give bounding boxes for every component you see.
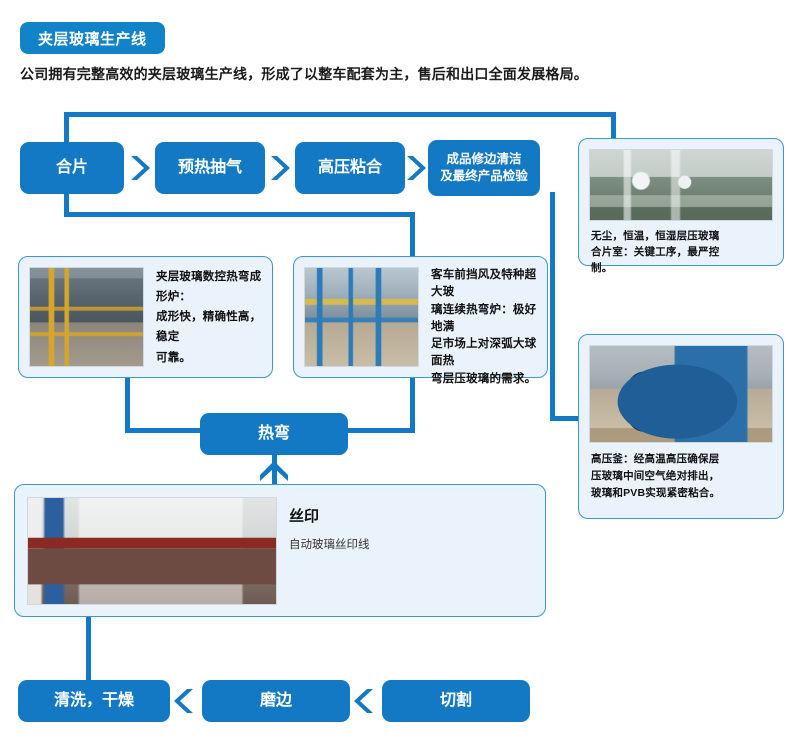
process-step-wash-dry[interactable]: 清洗，干燥	[18, 680, 170, 722]
process-step-inspection-line1: 成品修边清洁	[446, 151, 521, 168]
card-continuous-caption: 客车前挡风及特种超大玻 璃连续热弯炉：极好地满 足市场上对深弧大球面热 弯层压玻…	[431, 267, 537, 367]
card-continuous-caption-line4: 弯层压玻璃的需求。	[431, 371, 537, 388]
card-silkscreen-heading: 丝印	[289, 505, 370, 526]
card-autoclave[interactable]: 高压釜：经高温高压确保层 压玻璃中间空气绝对排出， 玻璃和PVB实现紧密粘合。	[578, 334, 784, 519]
card-continuous-caption-line3: 足市场上对深弧大球面热	[431, 336, 537, 371]
card-silkscreen[interactable]: 丝印 自动玻璃丝印线	[14, 484, 546, 617]
process-step-hepian-label: 合片	[56, 157, 88, 179]
card-continuous-caption-line2: 璃连续热弯炉：极好地满	[431, 302, 537, 337]
process-step-hepian[interactable]: 合片	[20, 142, 124, 194]
process-step-edging[interactable]: 磨边	[202, 680, 350, 722]
card-cleanroom-caption-line3: 制。	[591, 261, 771, 277]
autoclave-photo	[589, 345, 773, 443]
card-cnc-bending-furnace[interactable]: 夹层玻璃数控热弯成形炉： 成形快，精确性高，稳定 可靠。	[18, 256, 273, 378]
process-step-hot-bending[interactable]: 热弯	[200, 413, 348, 455]
process-step-hot-bending-label: 热弯	[258, 423, 290, 445]
card-continuous-caption-line1: 客车前挡风及特种超大玻	[431, 267, 537, 302]
process-step-inspection[interactable]: 成品修边清洁 及最终产品检验	[428, 140, 540, 196]
page-subtitle: 公司拥有完整高效的夹层玻璃生产线，形成了以整车配套为主，售后和出口全面发展格局。	[20, 64, 588, 84]
process-step-preheat[interactable]: 预热抽气	[155, 142, 265, 194]
card-furnace-caption-line2: 成形快，精确性高，稳定	[156, 307, 262, 347]
silkscreen-printing-line-photo	[27, 497, 277, 605]
continuous-bending-furnace-photo	[304, 267, 419, 367]
process-step-wash-dry-label: 清洗，干燥	[54, 690, 134, 712]
connector-furnace-down	[125, 378, 130, 431]
card-autoclave-caption-line3: 玻璃和PVB实现紧密粘合。	[591, 485, 771, 502]
chevron-right-icon-3	[404, 153, 426, 183]
connector-continuous-to-rewan	[345, 428, 415, 433]
card-cleanroom-caption: 无尘，恒温，恒湿层压玻璃 合片室：关键工序，最严控 制。	[589, 229, 773, 276]
connector-continuous-down	[410, 378, 415, 431]
card-autoclave-caption-line2: 压玻璃中间空气绝对排出，	[591, 468, 771, 485]
connector-top-horizontal	[64, 112, 616, 117]
cnc-bending-furnace-photo	[29, 267, 144, 367]
process-step-cutting-label: 切割	[440, 690, 472, 712]
card-furnace-caption-line3: 可靠。	[156, 348, 262, 368]
chevron-left-icon-1	[174, 686, 196, 716]
process-step-preheat-label: 预热抽气	[178, 157, 242, 179]
card-furnace-caption: 夹层玻璃数控热弯成形炉： 成形快，精确性高，稳定 可靠。	[156, 267, 262, 367]
flowchart-canvas: 夹层玻璃生产线 公司拥有完整高效的夹层玻璃生产线，形成了以整车配套为主，售后和出…	[0, 0, 800, 740]
card-autoclave-caption: 高压釜：经高温高压确保层 压玻璃中间空气绝对排出， 玻璃和PVB实现紧密粘合。	[589, 451, 773, 501]
card-silkscreen-subtext: 自动玻璃丝印线	[289, 536, 370, 552]
card-cleanroom-caption-line2: 合片室：关键工序，最严控	[591, 245, 771, 261]
process-step-inspection-line2: 及最终产品检验	[440, 168, 528, 185]
chevron-right-icon-2	[268, 153, 290, 183]
process-step-bonding[interactable]: 高压粘合	[295, 142, 405, 194]
connector-hepian-right	[64, 212, 415, 217]
chevron-right-icon-1	[128, 153, 150, 183]
card-autoclave-caption-line1: 高压釜：经高温高压确保层	[591, 451, 771, 468]
chevron-up-icon	[258, 458, 290, 482]
card-furnace-caption-line1: 夹层玻璃数控热弯成形炉：	[156, 267, 262, 307]
connector-top-vertical-right	[611, 112, 616, 140]
page-title-badge: 夹层玻璃生产线	[20, 22, 165, 54]
connector-gaoya-down	[550, 192, 555, 420]
connector-furnace-to-rewan	[125, 428, 205, 433]
process-step-cutting[interactable]: 切割	[382, 680, 530, 722]
card-cleanroom[interactable]: 无尘，恒温，恒湿层压玻璃 合片室：关键工序，最严控 制。	[578, 138, 784, 266]
process-step-bonding-label: 高压粘合	[318, 157, 382, 179]
laminating-cleanroom-photo	[589, 149, 773, 221]
process-step-edging-label: 磨边	[260, 690, 292, 712]
card-cleanroom-caption-line1: 无尘，恒温，恒湿层压玻璃	[591, 229, 771, 245]
connector-silk-down	[86, 617, 91, 682]
page-title-text: 夹层玻璃生产线	[38, 28, 147, 49]
connector-to-continuous-card	[410, 212, 415, 256]
chevron-left-icon-2	[354, 686, 376, 716]
card-continuous-bending[interactable]: 客车前挡风及特种超大玻 璃连续热弯炉：极好地满 足市场上对深弧大球面热 弯层压玻…	[293, 256, 548, 378]
